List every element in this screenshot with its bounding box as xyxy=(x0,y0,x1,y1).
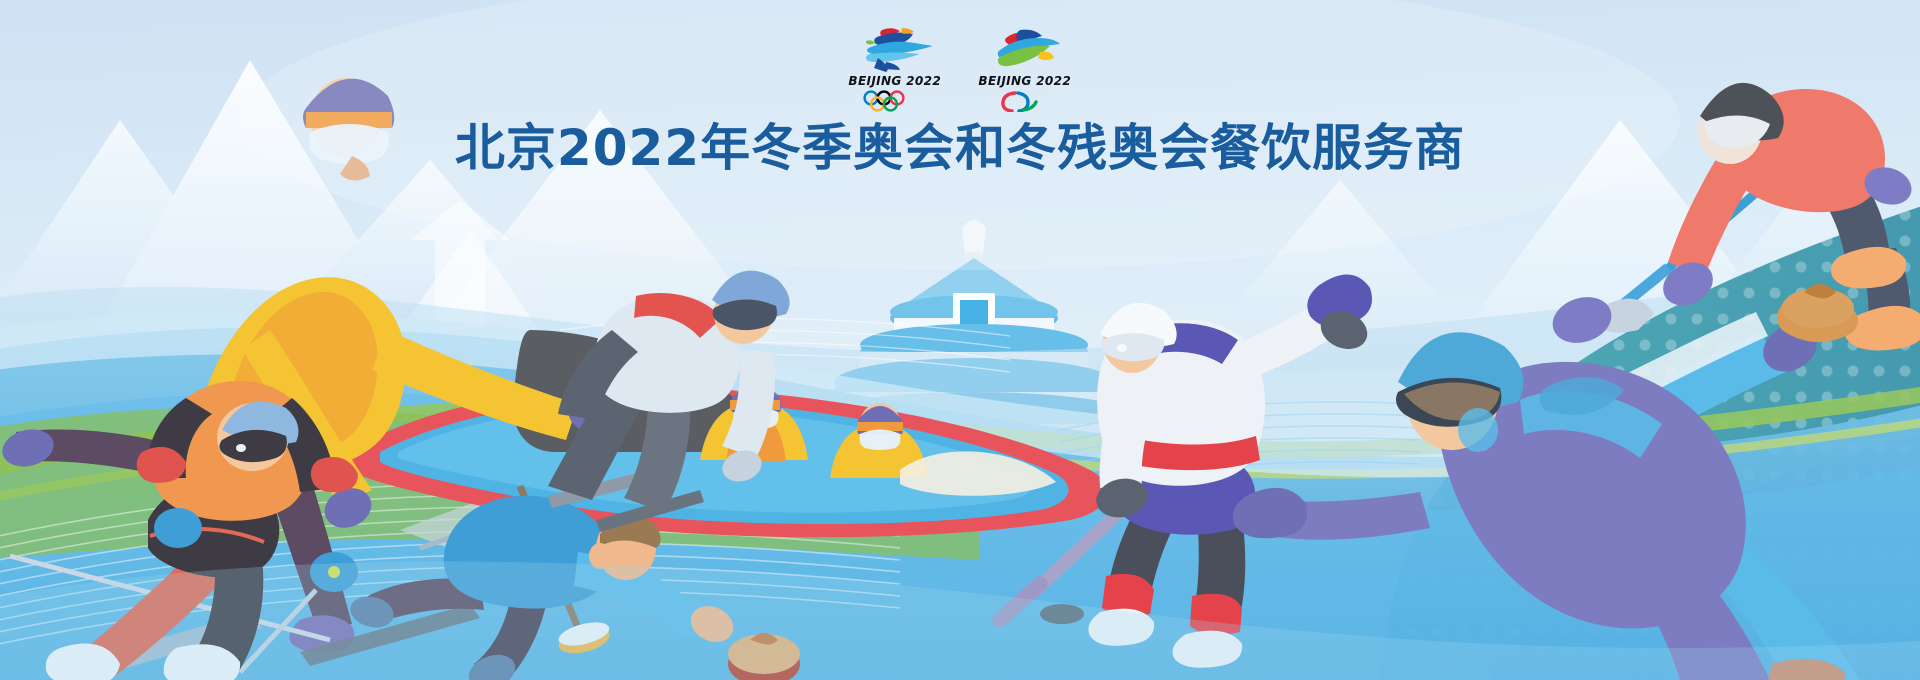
olympic-lockup: BEIJING 2022 xyxy=(847,24,943,112)
paralympic-lockup: BEIJING 2022 xyxy=(977,24,1073,112)
paralympic-wordmark: BEIJING 2022 xyxy=(979,73,1072,88)
beijing-2022-paralympic-emblem xyxy=(986,24,1064,72)
emblem-lockup-row: BEIJING 2022 BEIJING 2022 xyxy=(0,24,1920,112)
olympic-sponsor-banner: BEIJING 2022 BEIJING 2022 xyxy=(0,0,1920,680)
beijing-2022-olympic-emblem xyxy=(856,24,934,72)
paralympic-agitos xyxy=(989,90,1061,112)
olympic-wordmark: BEIJING 2022 xyxy=(849,73,942,88)
olympic-rings xyxy=(859,90,931,112)
